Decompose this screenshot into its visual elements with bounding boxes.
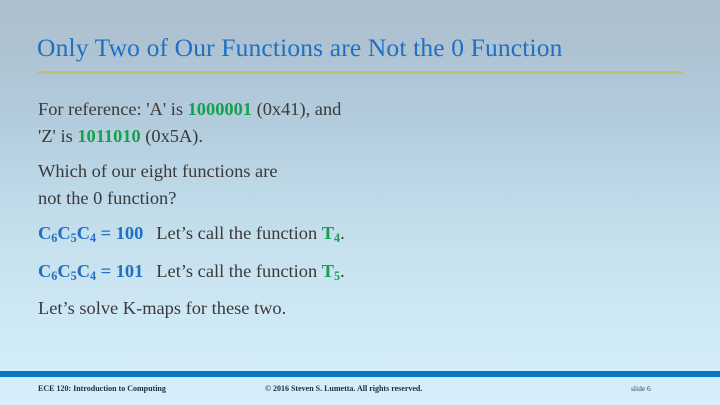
- t-subscript-5: 5: [334, 269, 340, 283]
- code-c6c5c4-100: C6C5C4 = 100: [38, 223, 143, 243]
- c-subscript-6: 6: [51, 231, 57, 245]
- c-subscript-5: 5: [71, 269, 77, 283]
- paragraph-reference: For reference: 'A' is 1000001 (0x41), an…: [38, 96, 698, 149]
- t-letter: T: [322, 261, 334, 281]
- reference-line2: 'Z' is 1011010 (0x5A).: [38, 123, 698, 150]
- reference-line1-prefix: For reference: 'A' is: [38, 99, 188, 119]
- title-block: Only Two of Our Functions are Not the 0 …: [37, 33, 685, 63]
- t4-sentence: Let’s call the function: [156, 223, 321, 243]
- kmaps-text: Let’s solve K-maps for these two.: [38, 298, 286, 318]
- c-equals-value: = 100: [96, 223, 143, 243]
- reference-line2-suffix: (0x5A).: [141, 126, 203, 146]
- footer-course-label: ECE 120: Introduction to Computing: [38, 384, 166, 393]
- slide-body: For reference: 'A' is 1000001 (0x41), an…: [38, 96, 698, 331]
- c-letter: C: [77, 261, 90, 281]
- c-letter: C: [57, 261, 70, 281]
- footer-copyright-label: © 2016 Steven S. Lumetta. All rights res…: [265, 384, 422, 393]
- slide-footer: ECE 120: Introduction to Computing © 201…: [0, 381, 720, 405]
- function-name-t4: T4: [322, 223, 340, 243]
- t-subscript-4: 4: [334, 231, 340, 245]
- paragraph-function-t5: C6C5C4 = 101Let’s call the function T5.: [38, 258, 698, 287]
- paragraph-kmaps: Let’s solve K-maps for these two.: [38, 295, 698, 322]
- c-letter: C: [77, 223, 90, 243]
- question-line1: Which of our eight functions are: [38, 161, 278, 181]
- c-letter: C: [38, 223, 51, 243]
- c-subscript-4: 4: [90, 231, 96, 245]
- t5-period: .: [340, 261, 345, 281]
- page-title: Only Two of Our Functions are Not the 0 …: [37, 33, 685, 63]
- reference-line2-prefix: 'Z' is: [38, 126, 77, 146]
- c-letter: C: [38, 261, 51, 281]
- paragraph-function-t4: C6C5C4 = 100Let’s call the function T4.: [38, 220, 698, 249]
- c-subscript-6: 6: [51, 269, 57, 283]
- c-letter: C: [57, 223, 70, 243]
- binary-value-a: 1000001: [188, 99, 252, 119]
- paragraph-question: Which of our eight functions are not the…: [38, 158, 698, 211]
- footer-divider-bar: [0, 371, 720, 377]
- slide-canvas: Only Two of Our Functions are Not the 0 …: [0, 0, 720, 405]
- function-name-t5: T5: [322, 261, 340, 281]
- title-underline-rule: [37, 71, 683, 74]
- t5-sentence: Let’s call the function: [156, 261, 321, 281]
- c-equals-value: = 101: [96, 261, 143, 281]
- t4-period: .: [340, 223, 345, 243]
- question-line2: not the 0 function?: [38, 185, 698, 212]
- c-subscript-5: 5: [71, 231, 77, 245]
- c-subscript-4: 4: [90, 269, 96, 283]
- code-c6c5c4-101: C6C5C4 = 101: [38, 261, 143, 281]
- t-letter: T: [322, 223, 334, 243]
- footer-slide-number: slide 6: [631, 384, 651, 393]
- reference-line1-suffix: (0x41), and: [252, 99, 341, 119]
- binary-value-z: 1011010: [77, 126, 140, 146]
